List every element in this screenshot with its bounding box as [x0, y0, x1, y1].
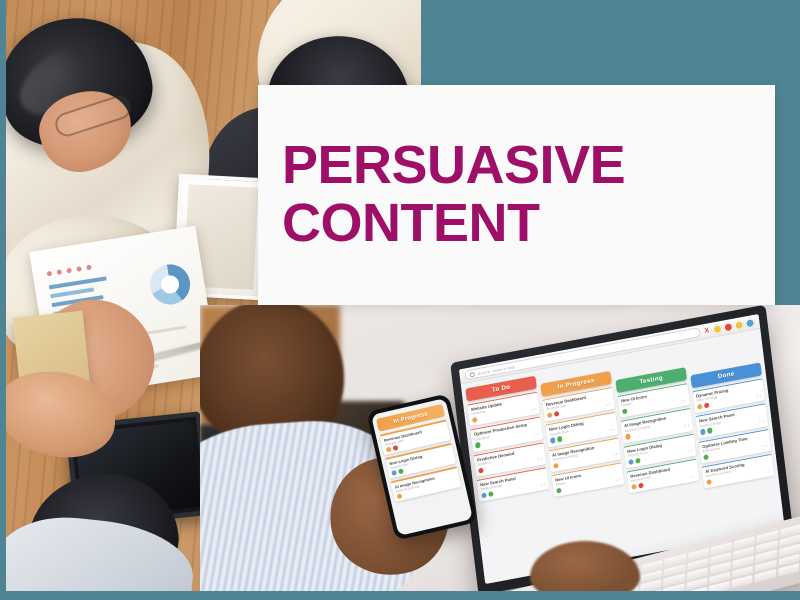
kanban-card-progress: 2 / 5: [531, 407, 537, 412]
teal-background-top-right: [421, 0, 800, 85]
kanban-card-progress: 9 / 9: [756, 393, 762, 398]
kanban-card-progress: 6 / 6: [759, 419, 765, 424]
phone-card-list: Revenue DashboardBusiness IntelNew Login…: [376, 419, 466, 503]
kanban-card-avatars[interactable]: [625, 434, 631, 440]
kanban-card-progress: 5 / 5: [615, 477, 621, 482]
kanban-card-avatars[interactable]: [697, 403, 709, 410]
avatar[interactable]: [475, 442, 481, 448]
kanban-card-avatars[interactable]: [706, 479, 712, 485]
avatar[interactable]: [706, 479, 712, 485]
avatar[interactable]: [386, 447, 392, 453]
avatar[interactable]: [704, 403, 710, 409]
avatar[interactable]: [397, 493, 403, 499]
avatar[interactable]: [707, 428, 713, 434]
title-line-2: CONTENT: [282, 195, 625, 253]
avatar[interactable]: [700, 429, 706, 435]
kanban-card-progress: 4 / 7: [606, 402, 612, 407]
avatar[interactable]: [488, 491, 494, 497]
search-placeholder: Search, name or task: [477, 364, 515, 376]
avatar-yellow[interactable]: [712, 323, 722, 334]
avatar[interactable]: [622, 409, 628, 415]
kanban-card-avatars[interactable]: [478, 467, 484, 473]
avatar[interactable]: [478, 467, 484, 473]
title-line-1: PERSUASIVE: [282, 135, 625, 195]
slide-canvas: Search, name or task X To DoWebsite Upda…: [0, 0, 800, 600]
search-icon: [469, 371, 475, 377]
avatar[interactable]: [556, 488, 562, 494]
kanban-card-avatars[interactable]: [631, 483, 643, 490]
clear-search-button[interactable]: X: [704, 327, 709, 335]
kanban-card-progress: 5 / 5: [681, 398, 687, 403]
teal-border-bottom: [0, 591, 800, 600]
kanban-card-avatars[interactable]: [481, 491, 493, 498]
avatar[interactable]: [554, 411, 560, 417]
avatar[interactable]: [393, 445, 399, 451]
teal-border-left: [0, 0, 6, 600]
kanban-card-avatars[interactable]: [547, 411, 559, 418]
avatar[interactable]: [697, 404, 703, 410]
kanban-card-avatars[interactable]: [550, 436, 562, 443]
kanban-card-progress: 0 / 3: [537, 457, 543, 462]
document-pie-chart: [147, 262, 193, 308]
kanban-card-progress: 3 / 6: [540, 482, 546, 487]
avatar[interactable]: [703, 454, 709, 460]
kanban-card-avatars[interactable]: [622, 409, 628, 415]
page-title: PERSUASIVE CONTENT: [258, 137, 625, 253]
kanban-card-avatars[interactable]: [553, 463, 559, 469]
kanban-card-avatars[interactable]: [628, 458, 640, 465]
avatar[interactable]: [550, 437, 556, 443]
kanban-card-avatars[interactable]: [703, 454, 709, 460]
kanban-card-avatars[interactable]: [556, 488, 562, 494]
avatar[interactable]: [481, 492, 487, 498]
avatar[interactable]: [631, 484, 637, 490]
kanban-card-progress: 1 / 8: [612, 452, 618, 457]
kanban-card-progress: 4 / 5: [687, 448, 693, 453]
avatar-yellow-2[interactable]: [734, 319, 744, 330]
title-panel: PERSUASIVE CONTENT: [258, 85, 775, 305]
avatar[interactable]: [625, 434, 631, 440]
kanban-card-progress: 1 / 4: [534, 432, 540, 437]
avatar[interactable]: [557, 436, 563, 442]
avatar[interactable]: [547, 412, 553, 418]
kanban-card-avatars[interactable]: [475, 442, 481, 448]
avatar-red[interactable]: [723, 321, 733, 332]
avatar[interactable]: [553, 463, 559, 469]
laptop-device: Search, name or task X To DoWebsite Upda…: [450, 305, 794, 592]
avatar[interactable]: [472, 417, 478, 423]
phone-laptop-kanban-photo: Search, name or task X To DoWebsite Upda…: [200, 305, 800, 592]
avatar[interactable]: [398, 468, 404, 474]
kanban-card-progress: 6 / 7: [690, 474, 696, 479]
kanban-card-avatars[interactable]: [700, 428, 712, 435]
kanban-card-progress: 7 / 7: [765, 469, 771, 474]
kanban-card-avatars[interactable]: [472, 417, 478, 423]
document-legend-dots: [47, 265, 92, 277]
avatar-blue[interactable]: [745, 317, 755, 328]
kanban-card-progress: 2 / 5: [609, 427, 615, 432]
kanban-card-progress: 4 / 4: [762, 444, 768, 449]
avatar[interactable]: [628, 459, 634, 465]
avatar[interactable]: [391, 470, 397, 476]
kanban-card-progress: 6 / 8: [684, 423, 690, 428]
avatar[interactable]: [638, 483, 644, 489]
avatar[interactable]: [635, 458, 641, 464]
